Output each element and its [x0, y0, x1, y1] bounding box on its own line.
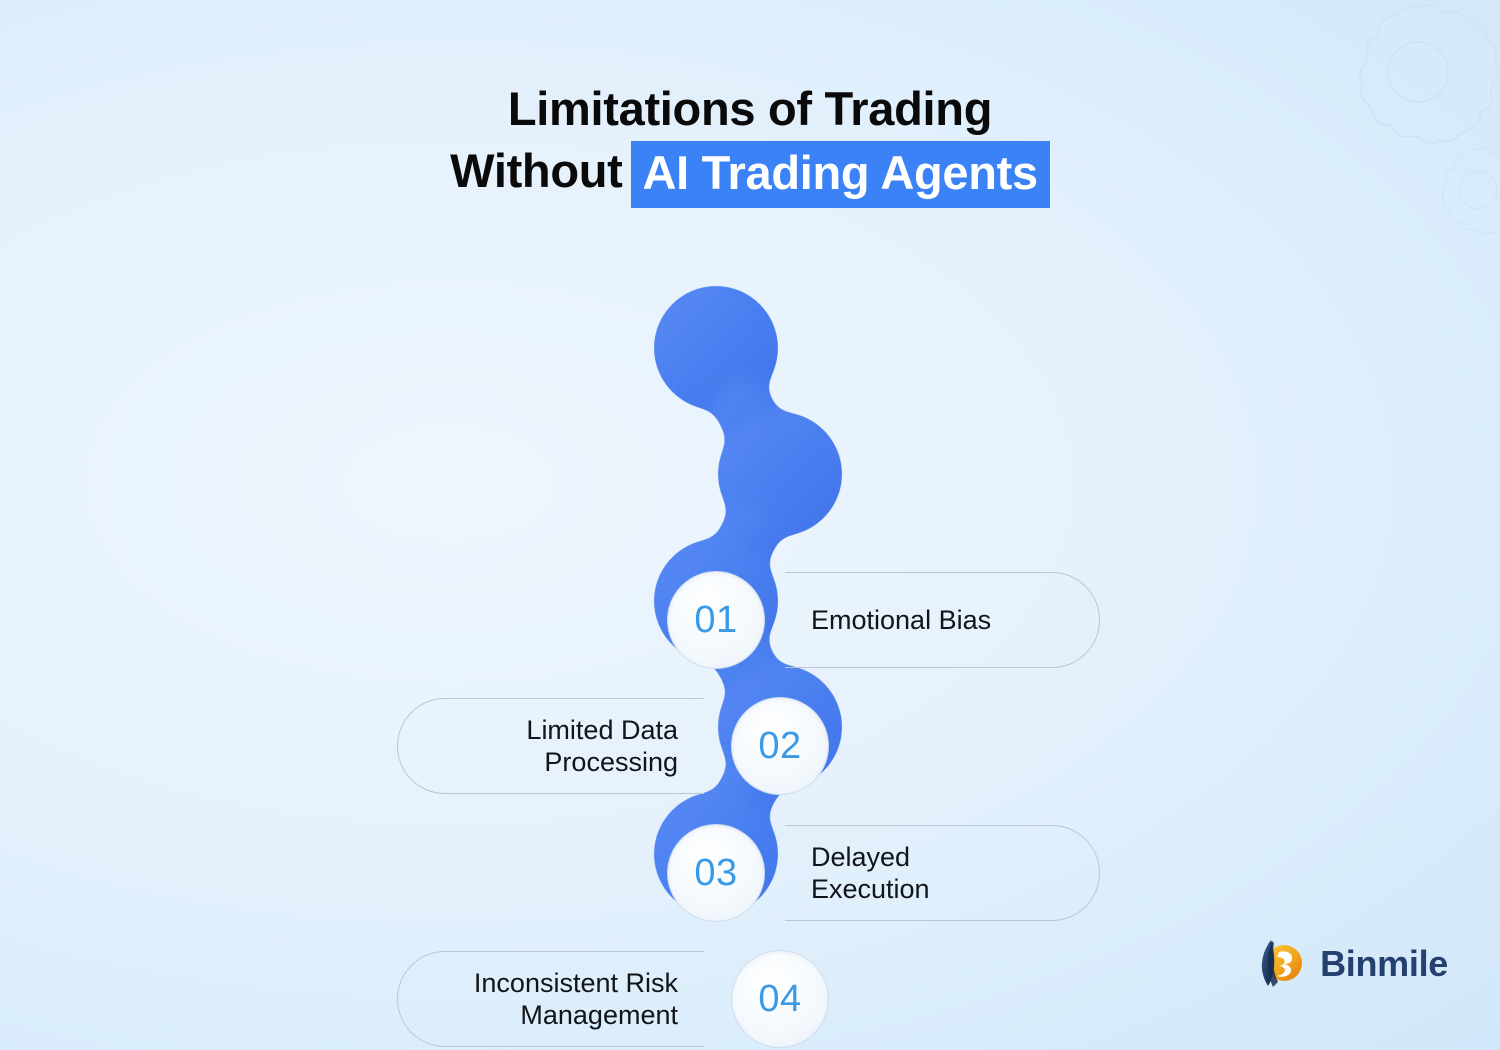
- brand-logo: Binmile: [1252, 936, 1448, 992]
- binmile-logo-icon: [1252, 936, 1308, 992]
- step-label-pill-03[interactable]: Delayed Execution: [785, 825, 1100, 921]
- step-label-pill-02[interactable]: Limited Data Processing: [397, 698, 704, 794]
- step-label-01: Emotional Bias: [811, 604, 1099, 636]
- brand-name: Binmile: [1320, 946, 1448, 982]
- step-node-04[interactable]: 04: [731, 950, 829, 1048]
- step-node-03[interactable]: 03: [667, 824, 765, 922]
- page-title-highlight-text: AI Trading Agents: [631, 141, 1050, 208]
- step-number-02: 02: [758, 727, 801, 765]
- step-number-03: 03: [694, 854, 737, 892]
- steps-chain: 01 02 03 04 05 Emotional Bias Limited Da…: [0, 272, 1500, 932]
- page-title-line-1: Limitations of Trading: [0, 82, 1500, 136]
- page-title-plain-text: Without: [450, 144, 622, 197]
- step-label-03: Delayed Execution: [811, 841, 1099, 906]
- step-label-pill-04[interactable]: Inconsistent Risk Management: [397, 951, 704, 1047]
- step-node-01[interactable]: 01: [667, 571, 765, 669]
- step-node-02[interactable]: 02: [731, 697, 829, 795]
- step-label-04: Inconsistent Risk Management: [398, 967, 678, 1032]
- page-title-line-2: WithoutAI Trading Agents: [0, 141, 1500, 208]
- step-label-02: Limited Data Processing: [398, 714, 678, 779]
- step-number-04: 04: [758, 980, 801, 1018]
- infographic-canvas: Limitations of Trading WithoutAI Trading…: [0, 0, 1500, 1050]
- page-title: Limitations of Trading WithoutAI Trading…: [0, 82, 1500, 208]
- step-label-pill-01[interactable]: Emotional Bias: [785, 572, 1100, 668]
- step-number-01: 01: [694, 601, 737, 639]
